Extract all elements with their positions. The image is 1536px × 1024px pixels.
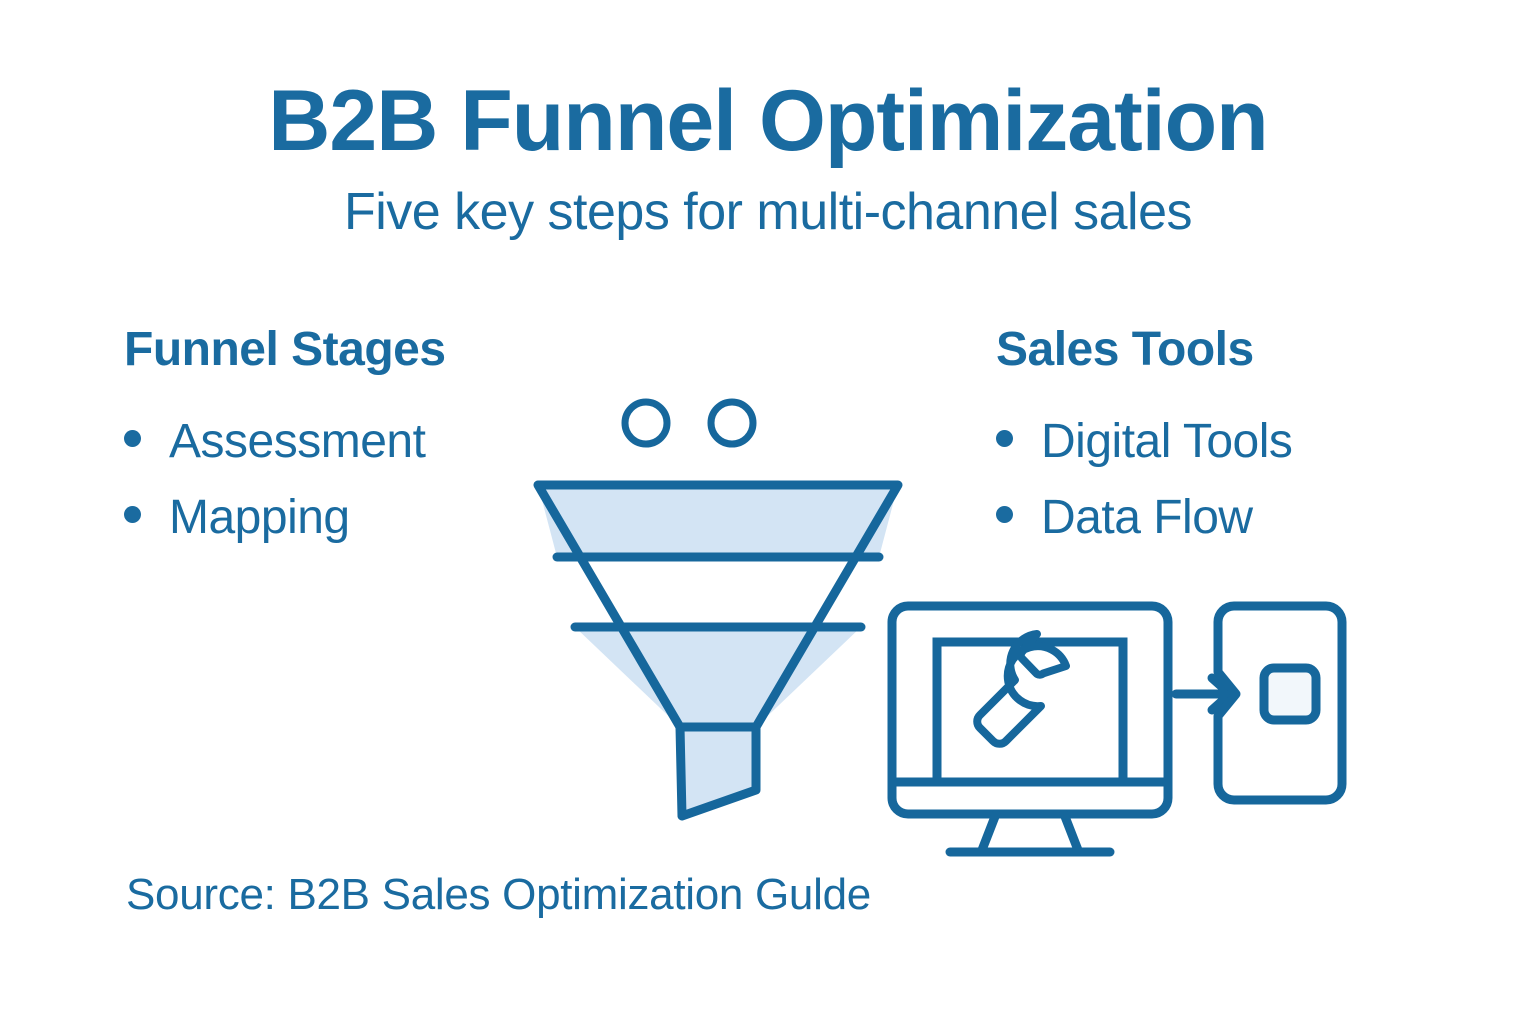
- funnel-stem: [680, 727, 756, 816]
- list-item-label: Mapping: [169, 494, 350, 542]
- data-box-icon: [1218, 606, 1342, 800]
- page-title: B2B Funnel Optimization: [0, 78, 1536, 164]
- funnel-band-1-fill: [538, 485, 898, 557]
- funnel-stages-column: Funnel Stages Assessment Mapping: [124, 326, 446, 570]
- bullet-dot-icon: [124, 430, 141, 447]
- header: B2B Funnel Optimization Five key steps f…: [0, 78, 1536, 238]
- bullet-dot-icon: [124, 506, 141, 523]
- monitor-icon: [892, 606, 1168, 852]
- funnel-circle-right-icon: [711, 402, 753, 444]
- infographic-canvas: B2B Funnel Optimization Five key steps f…: [0, 0, 1536, 1024]
- artwork-illustration: [500, 380, 1400, 870]
- data-box-inner-square: [1264, 668, 1316, 720]
- funnel-stages-heading: Funnel Stages: [124, 326, 446, 374]
- funnel-band-3-fill: [575, 627, 861, 727]
- funnel-stages-list: Assessment Mapping: [124, 418, 446, 542]
- sales-tools-heading: Sales Tools: [996, 326, 1292, 374]
- funnel-circle-left-icon: [625, 402, 667, 444]
- list-item-label: Assessment: [169, 418, 425, 466]
- funnel-icon: [538, 402, 898, 816]
- monitor-stand-neck: [982, 814, 1078, 850]
- list-item: Assessment: [124, 418, 446, 466]
- source-caption: Source: B2B Sales Optimization Gulde: [126, 873, 871, 917]
- wrench-icon: [977, 634, 1066, 744]
- list-item: Mapping: [124, 494, 446, 542]
- page-subtitle: Five key steps for multi-channel sales: [0, 186, 1536, 238]
